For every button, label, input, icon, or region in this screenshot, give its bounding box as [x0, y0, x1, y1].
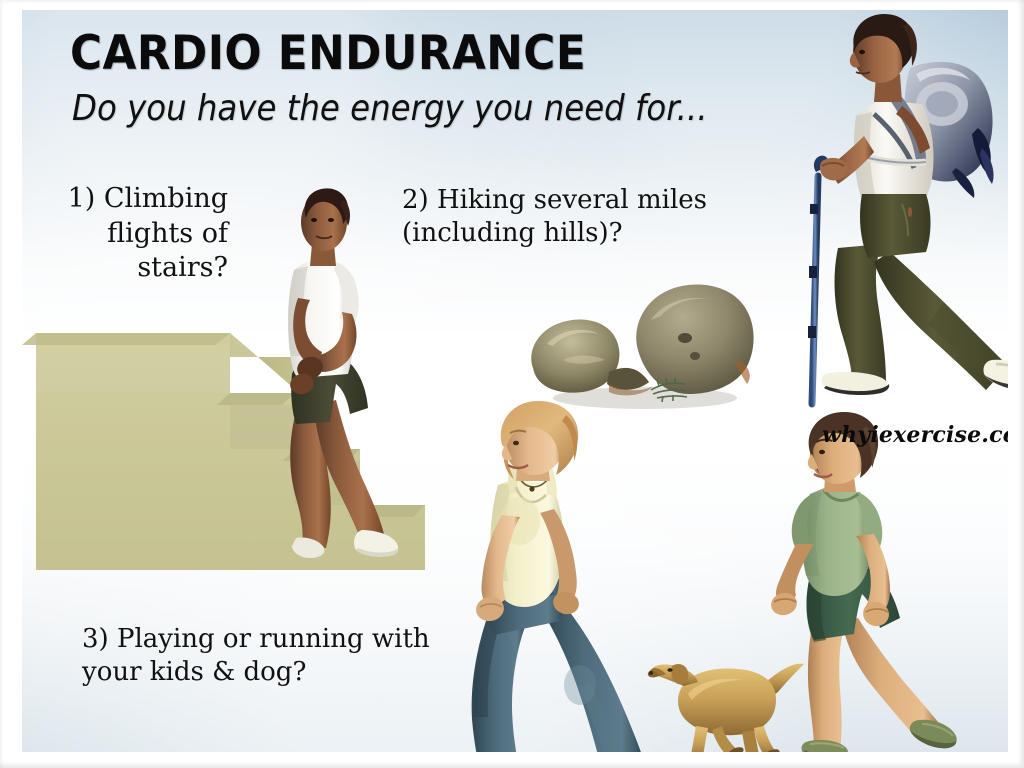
running-boy-illustration: [762, 448, 962, 752]
question-item-2: 2) Hiking several miles (including hills…: [402, 184, 762, 251]
poster-canvas: CARDIO ENDURANCE Do you have the energy …: [22, 10, 1008, 752]
poster-root: CARDIO ENDURANCE Do you have the energy …: [0, 0, 1024, 768]
page-title: CARDIO ENDURANCE: [70, 26, 586, 81]
website-attribution: whyiexercise.com: [822, 422, 1008, 448]
question-item-1: 1) Climbing flights of stairs?: [22, 182, 228, 286]
running-mother-illustration: [462, 423, 682, 752]
hiking-woman-illustration: [782, 10, 1008, 420]
boulders-illustration: [517, 268, 767, 413]
page-subtitle: Do you have the energy you need for...: [72, 88, 708, 129]
question-item-3: 3) Playing or running with your kids & d…: [82, 623, 462, 690]
